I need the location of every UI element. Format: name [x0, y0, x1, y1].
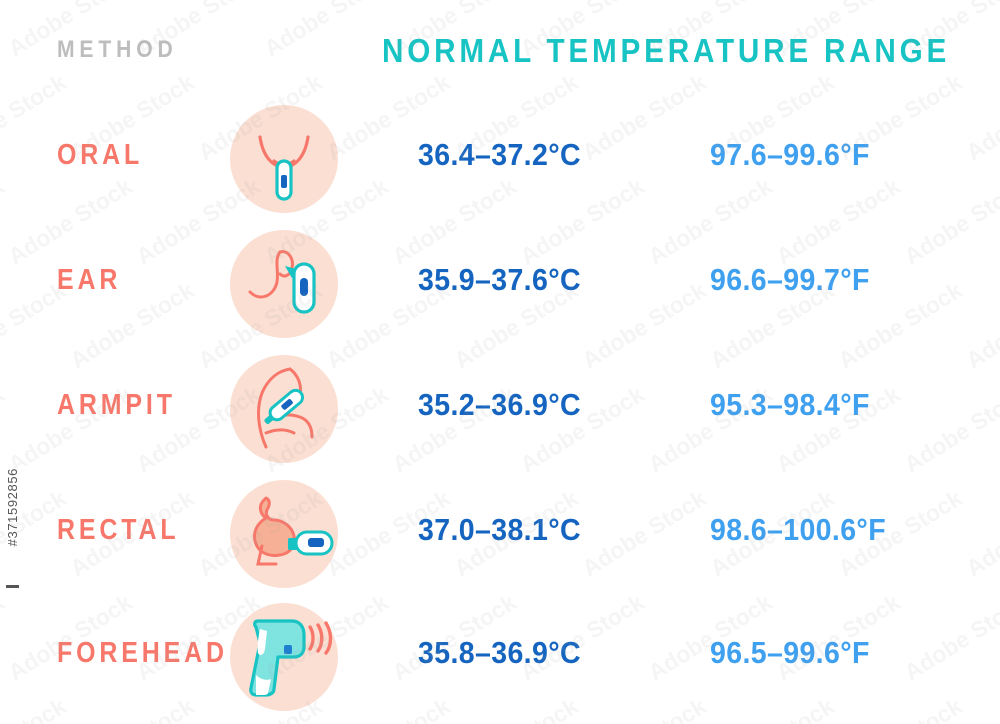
celsius-value-armpit: 35.2–36.9°C	[418, 346, 676, 464]
stock-asset-id: #371592856	[5, 468, 20, 546]
stock-asset-id-underline	[6, 585, 19, 588]
method-label-rectal: RECTAL	[57, 471, 180, 589]
celsius-value-forehead: 35.8–36.9°C	[418, 594, 676, 712]
icon-cell-forehead	[230, 603, 338, 711]
forehead-infrared-thermometer-icon	[230, 603, 338, 711]
icon-cell-oral	[230, 105, 338, 213]
table-row: RECTAL 37.0–38.1°C 98.6–100.6°F	[0, 471, 1000, 589]
fahrenheit-value-armpit: 95.3–98.4°F	[710, 346, 977, 464]
method-label-ear: EAR	[57, 221, 121, 339]
method-label-oral: ORAL	[57, 96, 143, 214]
celsius-value-rectal: 37.0–38.1°C	[418, 471, 676, 589]
fahrenheit-value-forehead: 96.5–99.6°F	[710, 594, 977, 712]
fahrenheit-value-ear: 96.6–99.7°F	[710, 221, 977, 339]
celsius-value-oral: 36.4–37.2°C	[418, 96, 676, 214]
icon-cell-rectal	[230, 480, 338, 588]
table-row: ARMPIT 35.2–36.9°C 95.3–98.4°F	[0, 346, 1000, 464]
mouth-thermometer-icon	[230, 105, 338, 213]
icon-cell-ear	[230, 230, 338, 338]
column-header-method: METHOD	[57, 32, 178, 68]
table-row: FOREHEAD 35.8–36.9°C 96.5–99.6°F	[0, 594, 1000, 712]
temperature-range-infographic: METHOD NORMAL TEMPERATURE RANGE ORAL 36.…	[0, 0, 1000, 724]
rectal-thermometer-icon	[230, 480, 338, 588]
method-label-forehead: FOREHEAD	[57, 594, 228, 712]
method-label-armpit: ARMPIT	[57, 346, 176, 464]
table-row: ORAL 36.4–37.2°C 97.6–99.6°F	[0, 96, 1000, 214]
celsius-value-ear: 35.9–37.6°C	[418, 221, 676, 339]
ear-thermometer-icon	[230, 230, 338, 338]
column-header-normal-temperature-range: NORMAL TEMPERATURE RANGE	[382, 30, 950, 72]
fahrenheit-value-rectal: 98.6–100.6°F	[710, 471, 977, 589]
table-row: EAR 35.9–37.6°C 96.6–99.7°F	[0, 221, 1000, 339]
icon-cell-armpit	[230, 355, 338, 463]
fahrenheit-value-oral: 97.6–99.6°F	[710, 96, 977, 214]
table-header: METHOD NORMAL TEMPERATURE RANGE	[0, 32, 1000, 72]
armpit-thermometer-icon	[230, 355, 338, 463]
